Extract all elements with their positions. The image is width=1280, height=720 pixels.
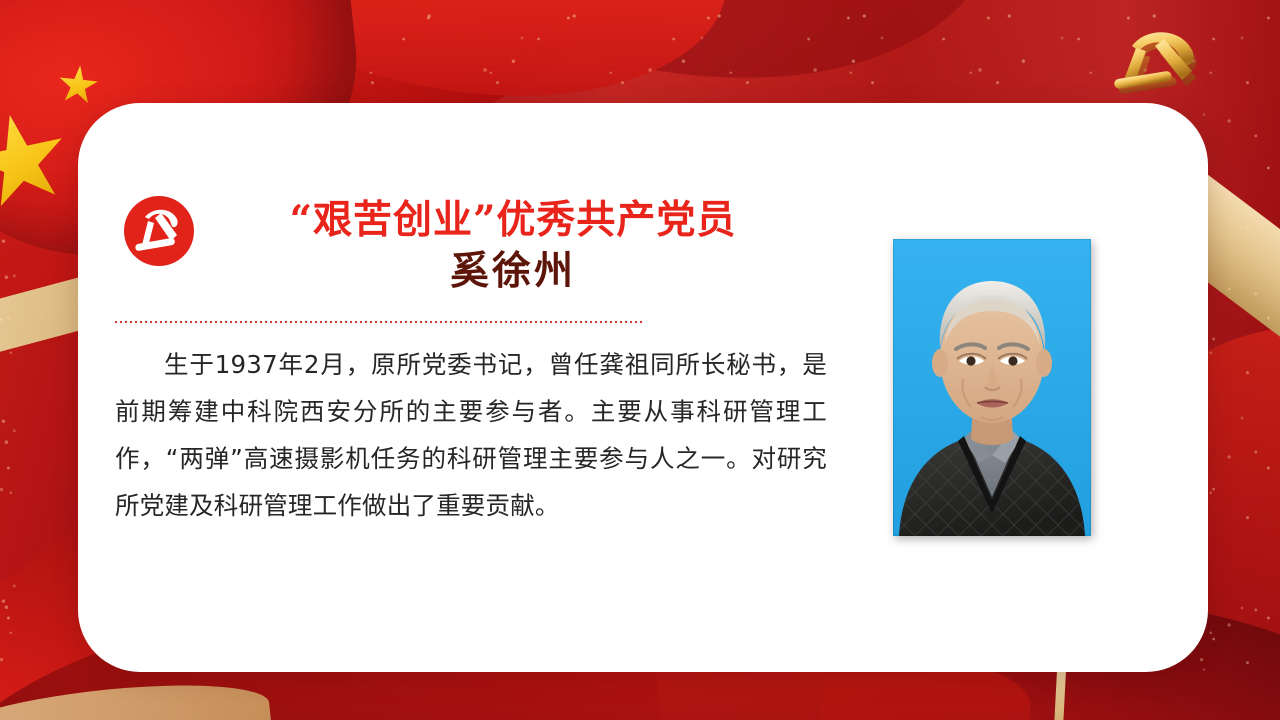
- title-block: “艰苦创业”优秀共产党员 奚徐州: [208, 195, 818, 297]
- biography-paragraph: 生于1937年2月，原所党委书记，曾任龚祖同所长秘书，是前期筹建中科院西安分所的…: [115, 341, 827, 529]
- person-name: 奚徐州: [208, 245, 818, 297]
- red-party-emblem-icon: [123, 195, 195, 267]
- slide-root: “艰苦创业”优秀共产党员 奚徐州 生于1937年2月，原所党委书记，曾任龚祖同所…: [0, 0, 1280, 720]
- page-title: “艰苦创业”优秀共产党员: [208, 195, 818, 245]
- content-card: “艰苦创业”优秀共产党员 奚徐州 生于1937年2月，原所党委书记，曾任龚祖同所…: [78, 103, 1208, 672]
- portrait-photo: [893, 239, 1091, 536]
- gold-party-emblem-icon: [1108, 22, 1212, 100]
- dotted-divider: [115, 321, 645, 323]
